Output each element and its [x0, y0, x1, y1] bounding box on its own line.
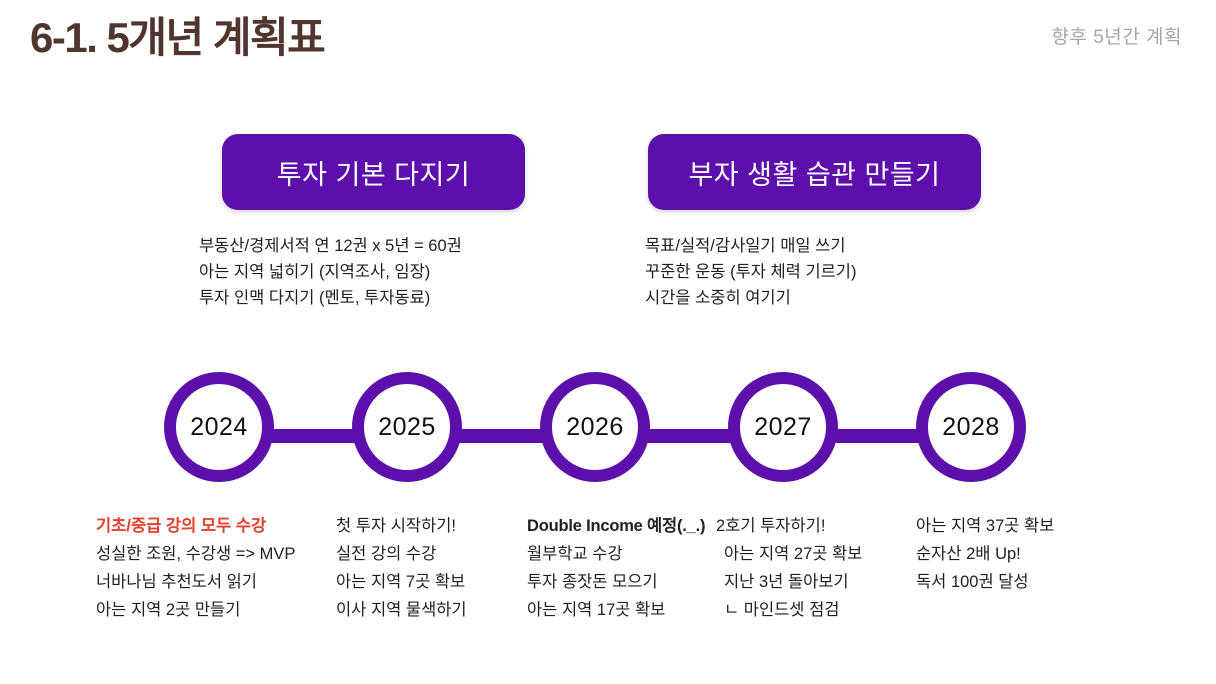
- year-detail-line: 실전 강의 수강: [336, 540, 467, 568]
- page-title: 6-1. 5개년 계획표: [30, 14, 324, 62]
- pillar-note-line: 꾸준한 운동 (투자 체력 기르기): [645, 259, 857, 285]
- year-detail-line: 이사 지역 물색하기: [336, 596, 467, 624]
- year-detail-line: 너바나님 추천도서 읽기: [96, 568, 295, 596]
- year-detail-line: 월부학교 수강: [527, 540, 705, 568]
- year-detail-line: 2호기 투자하기!: [716, 512, 862, 540]
- timeline-node-2024[interactable]: 2024: [164, 372, 274, 482]
- timeline-connector-2027-2028: [836, 429, 922, 443]
- timeline-node-2025[interactable]: 2025: [352, 372, 462, 482]
- timeline-node-2027[interactable]: 2027: [728, 372, 838, 482]
- year-details-2027: 2호기 투자하기! 아는 지역 27곳 확보 지난 3년 돌아보기 ㄴ 마인드셋…: [716, 512, 862, 624]
- year-detail-line: 첫 투자 시작하기!: [336, 512, 467, 540]
- timeline-connector-2024-2025: [270, 429, 362, 443]
- timeline-node-2026[interactable]: 2026: [540, 372, 650, 482]
- pillar-box-label: 투자 기본 다지기: [277, 153, 470, 192]
- pillar-box-investment-basics[interactable]: 투자 기본 다지기: [222, 134, 525, 210]
- slide-subtitle: 향후 5년간 계획: [1051, 22, 1182, 49]
- year-detail-line: 아는 지역 2곳 만들기: [96, 596, 295, 624]
- pillar-notes-investment-basics: 부동산/경제서적 연 12권 x 5년 = 60권 아는 지역 넓히기 (지역조…: [199, 233, 462, 311]
- pillar-box-label: 부자 생활 습관 만들기: [688, 153, 940, 192]
- year-detail-line: 아는 지역 7곳 확보: [336, 568, 467, 596]
- year-detail-line: 독서 100권 달성: [916, 568, 1054, 596]
- timeline-node-label: 2027: [754, 413, 812, 442]
- year-details-2026: Double Income 예정(._.) 월부학교 수강 투자 종잣돈 모으기…: [527, 512, 705, 624]
- year-detail-line: 아는 지역 27곳 확보: [716, 540, 862, 568]
- year-details-2025: 첫 투자 시작하기! 실전 강의 수강 아는 지역 7곳 확보 이사 지역 물색…: [336, 512, 467, 624]
- pillar-note-line: 부동산/경제서적 연 12권 x 5년 = 60권: [199, 233, 462, 259]
- pillar-note-line: 시간을 소중히 여기기: [645, 285, 857, 311]
- year-detail-line: 아는 지역 37곳 확보: [916, 512, 1054, 540]
- timeline-connector-2025-2026: [458, 429, 550, 443]
- year-detail-line: ㄴ 마인드셋 점검: [716, 596, 862, 624]
- timeline-connector-2026-2027: [646, 429, 738, 443]
- timeline-node-2028[interactable]: 2028: [916, 372, 1026, 482]
- year-detail-line: 아는 지역 17곳 확보: [527, 596, 705, 624]
- year-detail-line: 순자산 2배 Up!: [916, 540, 1054, 568]
- pillar-note-line: 목표/실적/감사일기 매일 쓰기: [645, 233, 857, 259]
- year-detail-line: 지난 3년 돌아보기: [716, 568, 862, 596]
- timeline-node-label: 2024: [190, 413, 248, 442]
- year-detail-line: Double Income 예정(._.): [527, 512, 705, 540]
- pillar-note-line: 투자 인맥 다지기 (멘토, 투자동료): [199, 285, 462, 311]
- year-detail-line: 성실한 조원, 수강생 => MVP: [96, 540, 295, 568]
- year-details-2028: 아는 지역 37곳 확보 순자산 2배 Up! 독서 100권 달성: [916, 512, 1054, 596]
- timeline-node-label: 2025: [378, 413, 436, 442]
- year-detail-line: 기초/중급 강의 모두 수강: [96, 512, 295, 540]
- pillar-notes-rich-habits: 목표/실적/감사일기 매일 쓰기 꾸준한 운동 (투자 체력 기르기) 시간을 …: [645, 233, 857, 311]
- year-detail-line: 투자 종잣돈 모으기: [527, 568, 705, 596]
- slide-canvas: 6-1. 5개년 계획표 향후 5년간 계획 투자 기본 다지기 부동산/경제서…: [0, 0, 1216, 684]
- pillar-box-rich-habits[interactable]: 부자 생활 습관 만들기: [648, 134, 981, 210]
- timeline-node-label: 2028: [942, 413, 1000, 442]
- timeline-node-label: 2026: [566, 413, 624, 442]
- pillar-note-line: 아는 지역 넓히기 (지역조사, 임장): [199, 259, 462, 285]
- year-details-2024: 기초/중급 강의 모두 수강 성실한 조원, 수강생 => MVP 너바나님 추…: [96, 512, 295, 624]
